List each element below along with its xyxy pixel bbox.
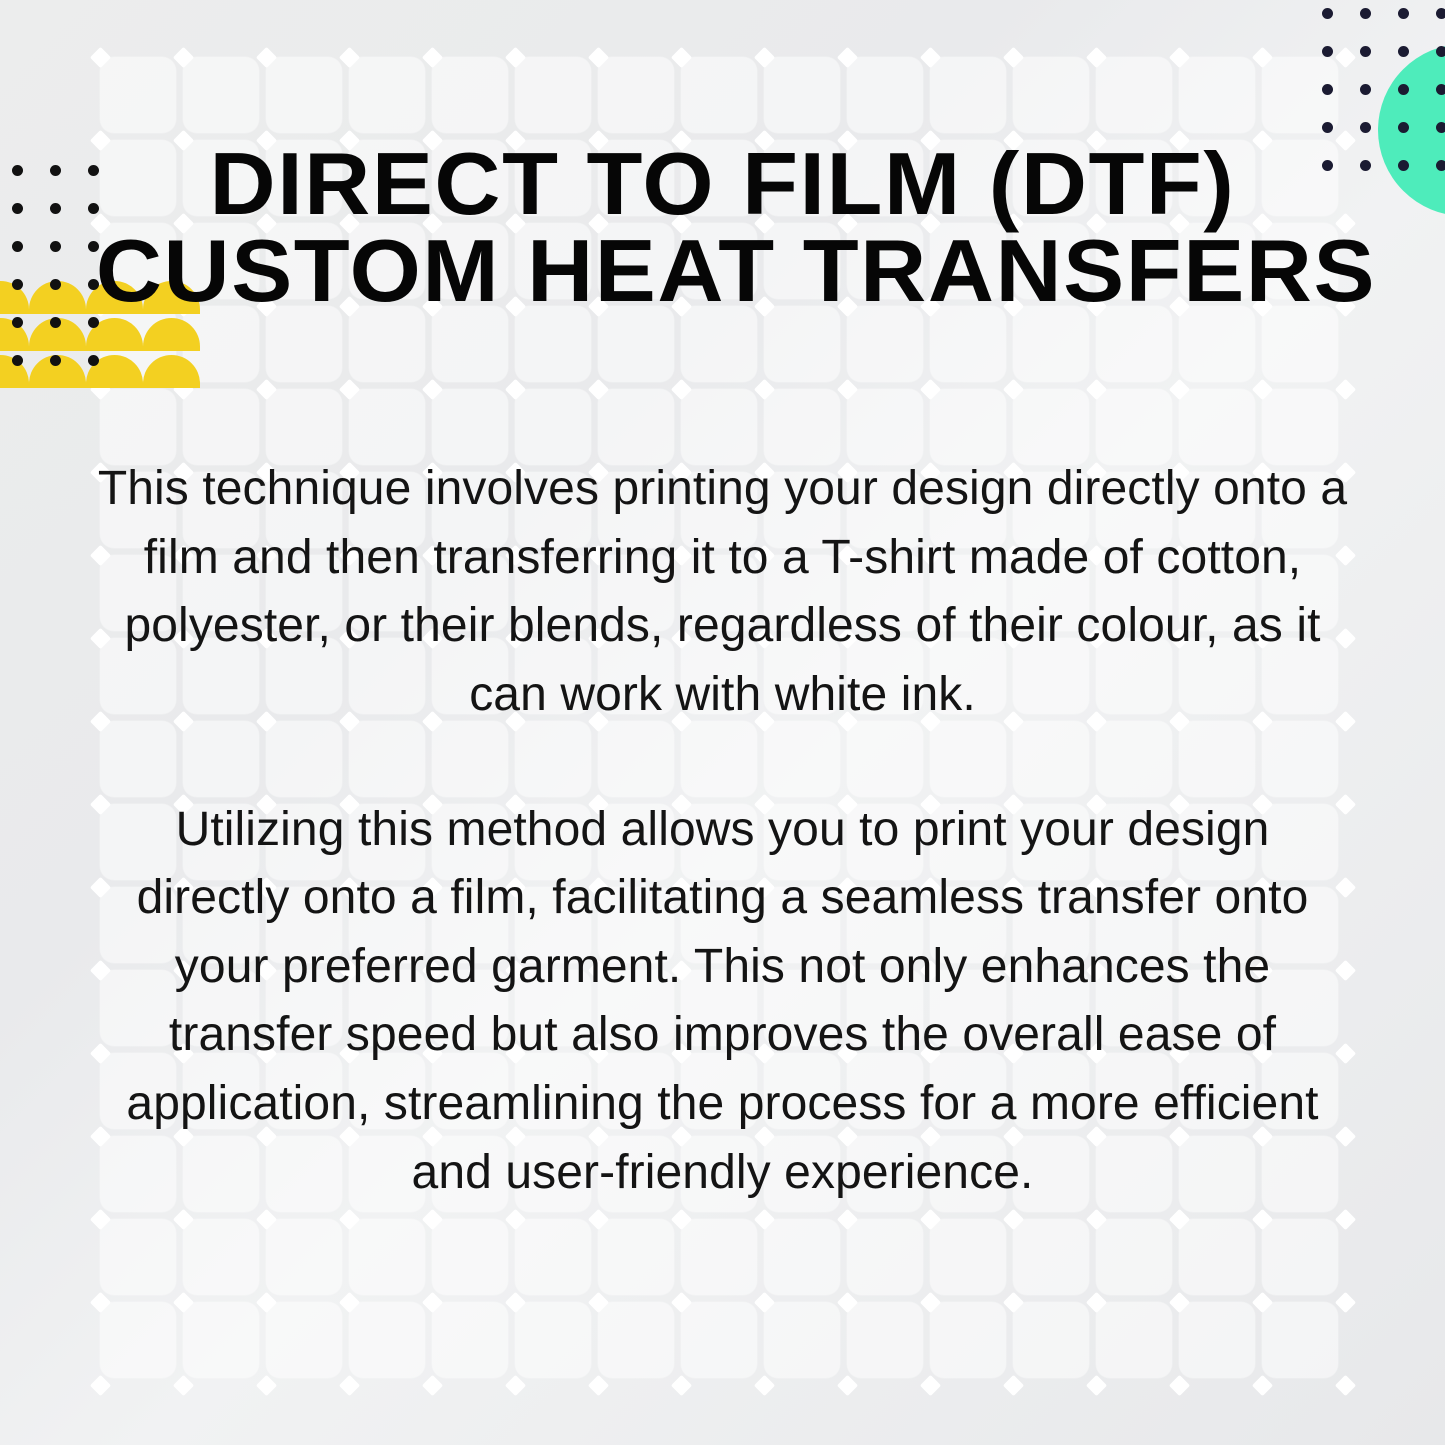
page-title: DIRECT TO FILM (DTF) CUSTOM HEAT TRANSFE… xyxy=(120,140,1325,314)
paragraph-2: Utilizing this method allows you to prin… xyxy=(95,796,1350,1208)
title-line-2: CUSTOM HEAT TRANSFERS xyxy=(96,227,1349,314)
content-layer: DIRECT TO FILM (DTF) CUSTOM HEAT TRANSFE… xyxy=(0,0,1445,1445)
paragraph-1: This technique involves printing your de… xyxy=(95,455,1350,730)
body-copy: This technique involves printing your de… xyxy=(95,455,1350,1207)
poster-canvas: DIRECT TO FILM (DTF) CUSTOM HEAT TRANSFE… xyxy=(0,0,1445,1445)
title-line-1: DIRECT TO FILM (DTF) xyxy=(96,140,1349,227)
